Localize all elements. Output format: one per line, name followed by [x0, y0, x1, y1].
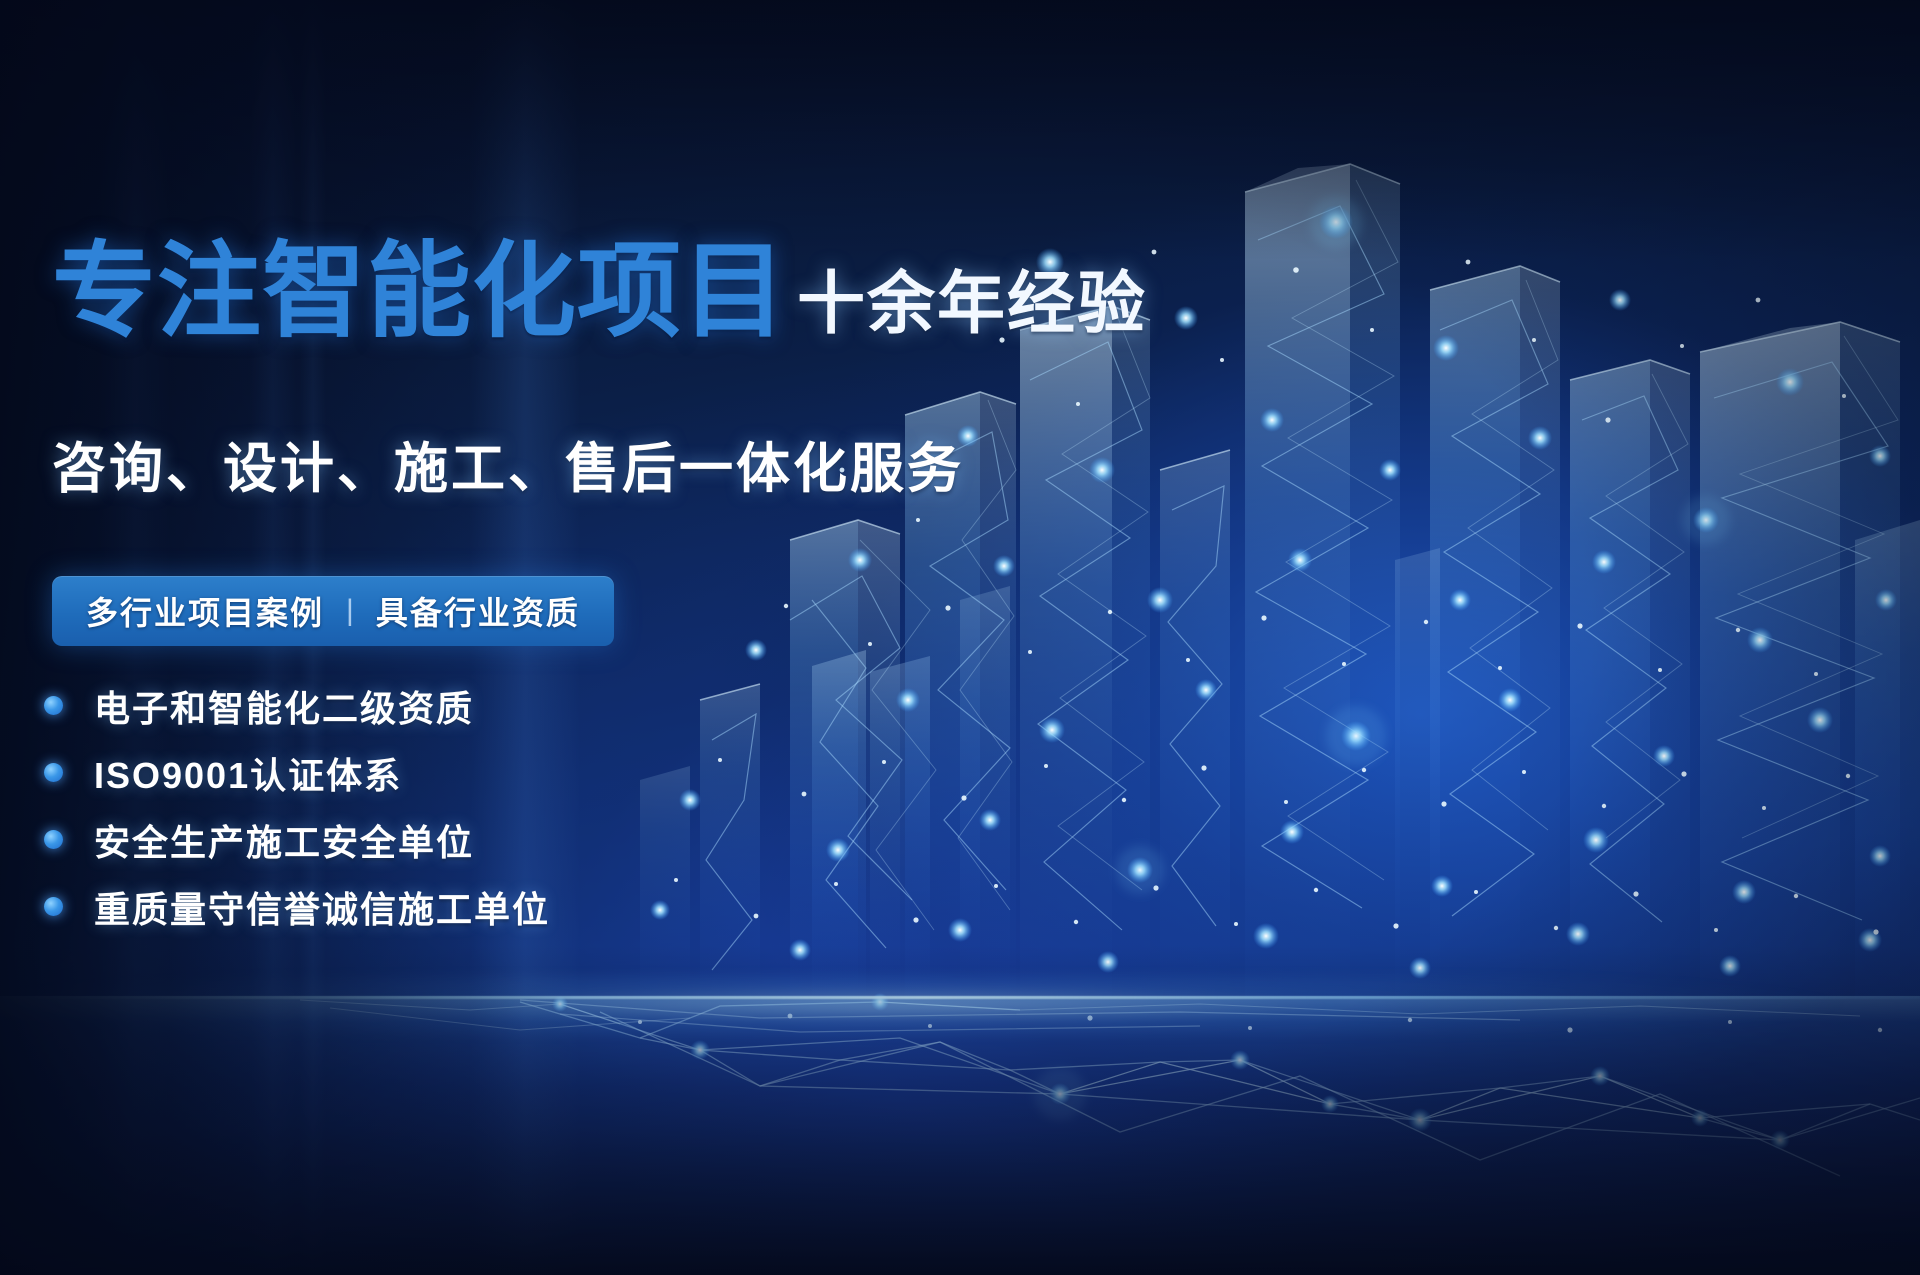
bullet-dot-icon	[44, 696, 63, 715]
badge-right-label: 具备行业资质	[376, 588, 580, 634]
list-item[interactable]: 安全生产施工安全单位	[44, 806, 550, 873]
qualification-list: 电子和智能化二级资质 ISO9001认证体系 安全生产施工安全单位 重质量守信誉…	[44, 672, 550, 940]
credentials-badge[interactable]: 多行业项目案例 | 具备行业资质	[52, 576, 614, 646]
tagline: 咨询、设计、施工、售后一体化服务	[52, 424, 964, 503]
list-item[interactable]: ISO9001认证体系	[44, 739, 550, 806]
banner-content: 专注智能化项目 十余年经验 咨询、设计、施工、售后一体化服务 多行业项目案例 |…	[0, 0, 1920, 1275]
headline: 专注智能化项目 十余年经验	[52, 240, 1147, 344]
headline-sub: 十余年经验	[797, 270, 1147, 338]
list-item-label: 重质量守信誉诚信施工单位	[94, 881, 550, 933]
headline-main: 专注智能化项目	[52, 240, 787, 344]
badge-separator: |	[346, 594, 354, 628]
bullet-dot-icon	[44, 763, 63, 782]
banner-hero: 专注智能化项目 十余年经验 咨询、设计、施工、售后一体化服务 多行业项目案例 |…	[0, 0, 1920, 1275]
badge-left-label: 多行业项目案例	[86, 588, 324, 634]
list-item-label: ISO9001认证体系	[94, 747, 402, 799]
list-item[interactable]: 电子和智能化二级资质	[44, 672, 550, 739]
bullet-dot-icon	[44, 830, 63, 849]
list-item-label: 电子和智能化二级资质	[94, 680, 474, 732]
list-item[interactable]: 重质量守信誉诚信施工单位	[44, 873, 550, 940]
bullet-dot-icon	[44, 897, 63, 916]
list-item-label: 安全生产施工安全单位	[94, 814, 474, 866]
